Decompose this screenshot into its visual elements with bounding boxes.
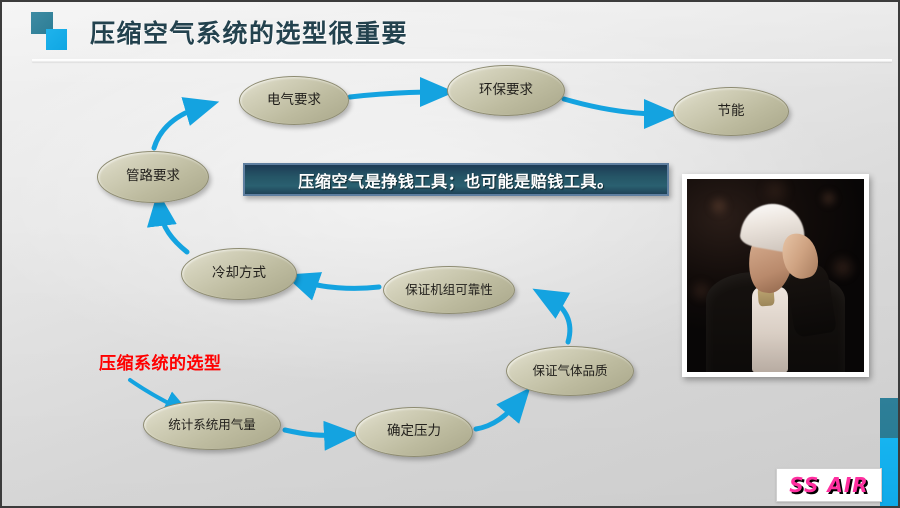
slide-canvas: 压缩空气系统的选型很重要 xyxy=(0,0,900,508)
photo-frustrated-man xyxy=(687,179,864,372)
flow-node-label: 节能 xyxy=(718,105,745,119)
arrow-guanlu-dianqi xyxy=(154,107,201,148)
arrow-kekaoxing-lengque xyxy=(302,281,379,288)
annotation-label: 压缩系统的选型 xyxy=(99,349,222,374)
brand-logo-text: SS AIR xyxy=(789,473,868,497)
flow-node-huanbao[interactable]: 环保要求 xyxy=(447,65,565,116)
edge-accent-bar-top xyxy=(880,398,898,438)
flow-node-yongqi[interactable]: 统计系统用气量 xyxy=(143,400,281,450)
arrow-lengque-guanlu xyxy=(160,210,187,252)
edge-accent-bar-bottom xyxy=(880,438,898,508)
arrow-dianqi-huanbao xyxy=(350,92,436,97)
flow-node-guanlu[interactable]: 管路要求 xyxy=(97,151,209,203)
brand-logo: SS AIR xyxy=(776,468,882,502)
arrow-pinzhi-kekaoxing xyxy=(549,298,570,342)
flow-node-label: 保证气体品质 xyxy=(532,365,607,378)
photo-frame xyxy=(682,174,869,377)
flow-node-label: 确定压力 xyxy=(387,425,441,439)
arrow-yali-pinzhi xyxy=(476,402,518,429)
flow-node-label: 环保要求 xyxy=(479,84,533,98)
flow-node-label: 管路要求 xyxy=(126,170,180,184)
flow-node-label: 冷却方式 xyxy=(212,267,266,281)
highlight-banner-text: 压缩空气是挣钱工具；也可能是赔钱工具。 xyxy=(298,168,613,192)
flow-node-label: 保证机组可靠性 xyxy=(405,284,493,297)
flow-node-label: 统计系统用气量 xyxy=(168,419,256,432)
flow-node-jieneng[interactable]: 节能 xyxy=(673,87,789,136)
flow-node-label: 电气要求 xyxy=(267,94,321,108)
flow-node-dianqi[interactable]: 电气要求 xyxy=(239,76,349,125)
flow-node-lengque[interactable]: 冷却方式 xyxy=(181,248,297,300)
arrow-huanbao-jieneng xyxy=(564,99,660,114)
flow-node-pinzhi[interactable]: 保证气体品质 xyxy=(506,346,634,396)
arrow-yongqi-yali xyxy=(285,430,340,435)
flow-node-kekaoxing[interactable]: 保证机组可靠性 xyxy=(383,266,515,314)
highlight-banner: 压缩空气是挣钱工具；也可能是赔钱工具。 xyxy=(243,163,669,196)
flow-node-yali[interactable]: 确定压力 xyxy=(355,407,473,457)
